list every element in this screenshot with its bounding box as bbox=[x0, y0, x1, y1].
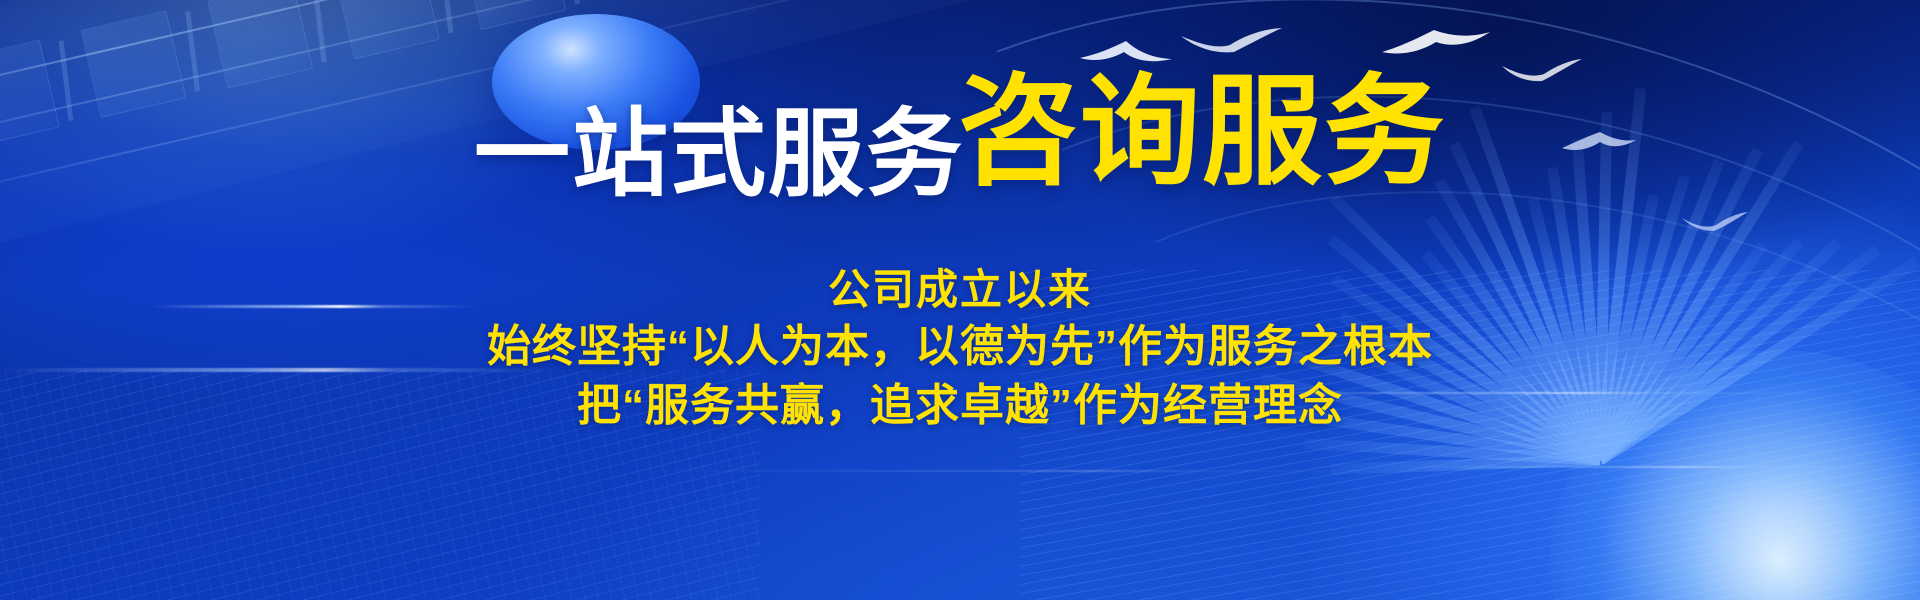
seagull-icon bbox=[1178, 24, 1284, 58]
seagull-icon bbox=[1680, 210, 1750, 234]
headline-block: 一站式服务咨询服务 bbox=[0, 72, 1920, 203]
headline-accent: 咨询服务 bbox=[958, 65, 1446, 199]
subtitle-line-1: 公司成立以来 bbox=[0, 262, 1920, 318]
headline-primary: 一站式服务 bbox=[474, 101, 964, 208]
light-streak bbox=[640, 470, 1420, 472]
subtitle-line-2: 始终坚持“以人为本，以德为先”作为服务之根本 bbox=[0, 318, 1920, 377]
promo-banner: 一站式服务咨询服务 公司成立以来 始终坚持“以人为本，以德为先”作为服务之根本 … bbox=[0, 0, 1920, 600]
subtitle-line-3: 把“服务共赢，追求卓越”作为经营理念 bbox=[0, 377, 1920, 436]
light-streak bbox=[1380, 466, 1900, 468]
seagull-icon bbox=[1380, 22, 1492, 62]
subtitle-block: 公司成立以来 始终坚持“以人为本，以德为先”作为服务之根本 把“服务共赢，追求卓… bbox=[0, 262, 1920, 436]
